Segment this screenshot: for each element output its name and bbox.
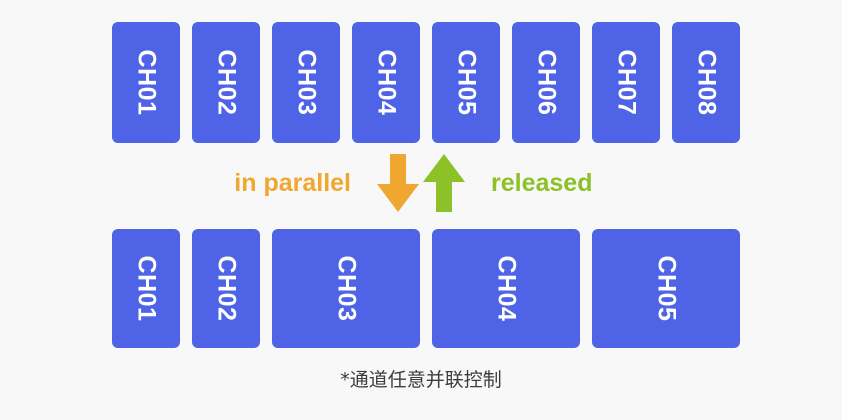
channel-label: CH06 [533,50,558,116]
in-parallel-label: in parallel [185,171,375,196]
diagram-canvas: CH01 CH02 CH03 CH04 CH05 CH06 CH07 CH08 … [0,0,842,420]
channel-label: CH01 [133,256,158,322]
parallel-transition-band: in parallel released [0,152,842,214]
arrow-up-wrapper [421,154,467,212]
channel-row-merged: CH01 CH02 CH03 CH04 CH05 [112,229,740,348]
arrow-up-icon [423,154,465,212]
channel-label: CH04 [493,256,518,322]
channel-row-individual: CH01 CH02 CH03 CH04 CH05 CH06 CH07 CH08 [112,22,740,143]
released-label: released [467,171,657,196]
channel-label: CH05 [653,256,678,322]
channel-label: CH01 [133,50,158,116]
channel-block-ch02-bottom[interactable]: CH02 [192,229,260,348]
channel-block-ch03-top[interactable]: CH03 [272,22,340,143]
channel-label: CH02 [213,50,238,116]
channel-block-ch05-top[interactable]: CH05 [432,22,500,143]
channel-label: CH02 [213,256,238,322]
arrow-down-wrapper [375,154,421,212]
channel-block-ch06-top[interactable]: CH06 [512,22,580,143]
channel-label: CH08 [693,50,718,116]
diagram-caption: *通道任意并联控制 [0,365,842,392]
channel-block-ch01-top[interactable]: CH01 [112,22,180,143]
channel-block-ch04-top[interactable]: CH04 [352,22,420,143]
channel-block-ch03-bottom[interactable]: CH03 [272,229,420,348]
channel-block-ch05-bottom[interactable]: CH05 [592,229,740,348]
channel-label: CH07 [613,50,638,116]
channel-label: CH03 [293,50,318,116]
channel-block-ch08-top[interactable]: CH08 [672,22,740,143]
channel-block-ch01-bottom[interactable]: CH01 [112,229,180,348]
channel-block-ch04-bottom[interactable]: CH04 [432,229,580,348]
channel-block-ch02-top[interactable]: CH02 [192,22,260,143]
channel-label: CH04 [373,50,398,116]
channel-label: CH03 [333,256,358,322]
channel-block-ch07-top[interactable]: CH07 [592,22,660,143]
channel-label: CH05 [453,50,478,116]
arrow-down-icon [377,154,419,212]
